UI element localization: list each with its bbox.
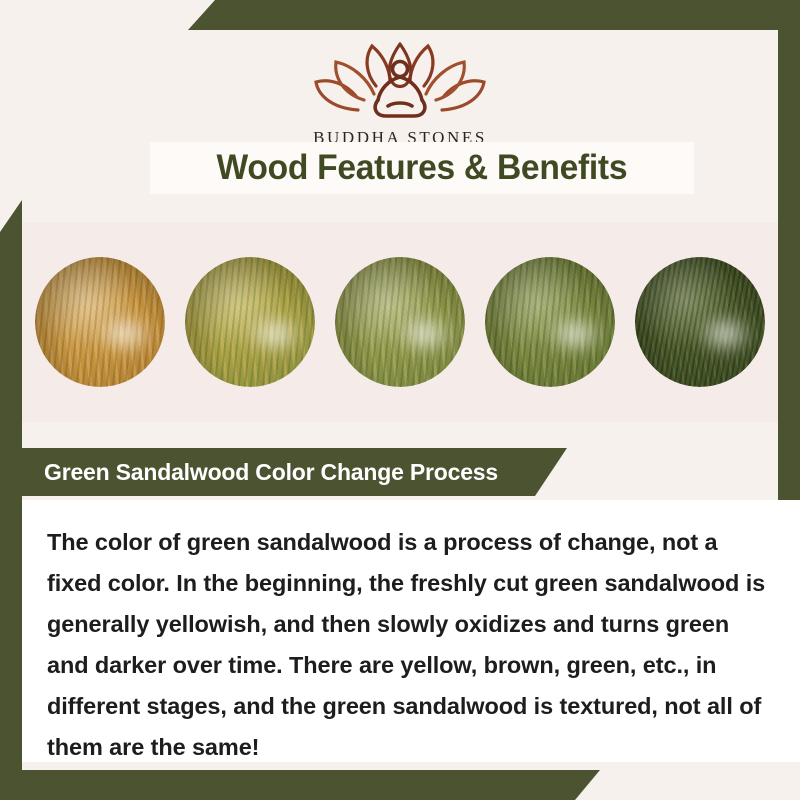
lotus-meditation-icon [300,38,500,124]
frame-border-bottom [0,770,800,800]
bead-shading [35,257,165,387]
bead-shading [485,257,615,387]
bead-stage-3 [335,257,465,387]
frame-border-top [0,0,800,30]
section-header-title: Green Sandalwood Color Change Process [44,459,498,486]
bead-shading [335,257,465,387]
poster-root: BUDDHA STONES Wood Features & Benefits [0,0,800,800]
section-header-bar: Green Sandalwood Color Change Process [22,448,567,496]
bead-stage-2 [185,257,315,387]
section-body-text: The color of green sandalwood is a proce… [47,522,774,768]
bead-stage-1 [35,257,165,387]
bead-gallery [22,222,778,422]
section-body-panel: The color of green sandalwood is a proce… [22,500,800,762]
title-banner: Wood Features & Benefits [150,142,694,194]
frame-border-left [0,200,22,800]
bead-shading [185,257,315,387]
page-title: Wood Features & Benefits [217,148,628,188]
bead-stage-5 [635,257,765,387]
bead-shading [635,257,765,387]
brand-logo: BUDDHA STONES [22,38,778,148]
bead-stage-4 [485,257,615,387]
